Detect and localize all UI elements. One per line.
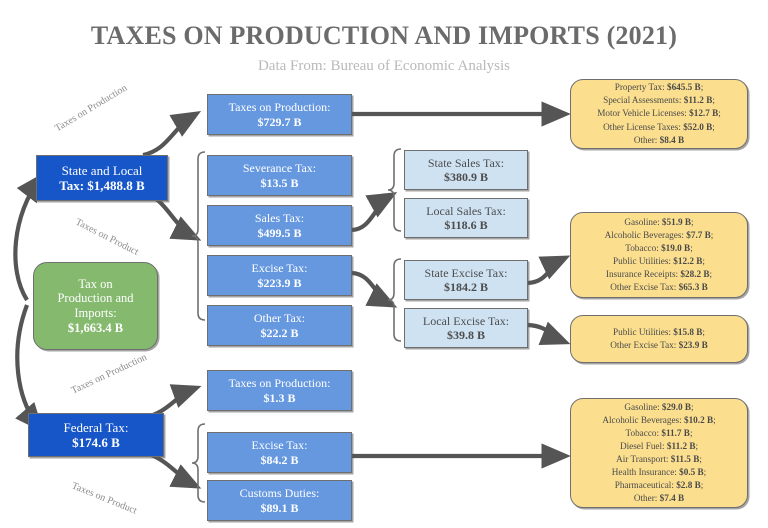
sl-production-label: Taxes on Production: [229,100,331,114]
page-title: TAXES ON PRODUCTION AND IMPORTS (2021) [0,21,768,51]
node-customs-duties[interactable]: Customs Duties: $89.1 B [207,480,352,521]
detail-box-production-taxes[interactable]: Property Tax: $645.5 B;Special Assessmen… [570,79,748,149]
detail-row: Tobacco: $19.0 B; [605,242,714,255]
state-excise-label: State Excise Tax: [425,266,508,280]
root-amount: $1,663.4 B [57,321,133,336]
federal-label: Federal Tax: [64,420,129,435]
edge-label-state-production: Taxes on Production [53,83,129,135]
brace-federal-product [192,424,205,502]
detail-row: Other Excise Tax: $65.3 B [605,281,714,294]
node-sl-taxes-on-production[interactable]: Taxes on Production: $729.7 B [207,94,352,135]
node-state-sales-tax[interactable]: State Sales Tax: $380.9 B [404,150,528,190]
node-fed-taxes-on-production[interactable]: Taxes on Production: $1.3 B [207,370,352,411]
other-tax-label: Other Tax: [254,311,305,325]
detail-row: Other: $7.4 B [602,492,715,505]
state-sales-amount: $380.9 B [428,170,504,184]
root-line1: Tax on [57,277,133,292]
node-sales-tax[interactable]: Sales Tax: $499.5 B [207,205,352,246]
state-excise-amount: $184.2 B [425,280,508,294]
detail-row: Pharmaceutical: $2.8 B; [602,479,715,492]
detail-row: Gasoline: $51.9 B; [605,216,714,229]
root-line2: Production and [57,291,133,306]
detail-row: Alcoholic Beverages: $10.2 B; [602,414,715,427]
sl-excise-amount: $223.9 B [252,276,308,290]
detail-row: Tobacco: $11.7 B; [602,427,715,440]
severance-label: Severance Tax: [243,161,316,175]
state-sales-label: State Sales Tax: [428,156,504,170]
brace-sales-group [388,149,401,231]
brace-state-product [192,152,205,320]
node-severance-tax[interactable]: Severance Tax: $13.5 B [207,155,352,196]
local-excise-amount: $39.8 B [423,328,509,342]
node-sl-excise-tax[interactable]: Excise Tax: $223.9 B [207,255,352,296]
node-local-excise-tax[interactable]: Local Excise Tax: $39.8 B [404,308,528,348]
customs-amount: $89.1 B [240,501,320,515]
node-other-tax[interactable]: Other Tax: $22.2 B [207,305,352,346]
detail-row: Insurance Receipts: $28.2 B; [605,268,714,281]
detail-row: Property Tax: $645.5 B; [597,81,721,94]
detail-row: Public Utilities: $15.8 B; [610,326,707,339]
page-subtitle: Data From: Bureau of Economic Analysis [0,58,768,75]
diagram-canvas: TAXES ON PRODUCTION AND IMPORTS (2021) D… [0,0,768,528]
state-local-label: State and Local [59,163,144,178]
root-line3: Imports: [57,306,133,321]
detail-box-federal-excise[interactable]: Gasoline: $29.0 B;Alcoholic Beverages: $… [570,398,748,508]
edge-label-federal-production: Taxes on Production [70,352,149,397]
sl-production-amount: $729.7 B [229,115,331,129]
detail-row: Diesel Fuel: $11.2 B; [602,440,715,453]
federal-amount: $174.6 B [64,435,129,450]
state-local-amount: Tax: $1,488.8 B [59,178,144,193]
fed-production-amount: $1.3 B [229,391,331,405]
edge-local-excise-to-detail [528,325,565,342]
detail-rows: Gasoline: $51.9 B;Alcoholic Beverages: $… [605,216,714,294]
detail-row: Special Assessments: $11.2 B; [597,94,721,107]
edge-state-to-production [143,114,196,155]
edge-federal-to-product [143,452,196,486]
node-fed-excise-tax[interactable]: Excise Tax: $84.2 B [207,432,352,473]
sl-excise-label: Excise Tax: [252,261,308,275]
node-state-and-local-tax[interactable]: State and Local Tax: $1,488.8 B [36,155,168,201]
node-tax-on-production-and-imports[interactable]: Tax on Production and Imports: $1,663.4 … [33,262,158,350]
local-sales-amount: $118.6 B [426,218,506,232]
detail-row: Motor Vehicle Licenses: $12.7 B; [597,107,721,120]
detail-row: Other: $8.4 B [597,134,721,147]
detail-row: Public Utilities: $12.2 B; [605,255,714,268]
edge-sales-to-sales-group [352,195,392,230]
detail-row: Other Excise Tax: $23.9 B [610,339,707,352]
node-federal-tax[interactable]: Federal Tax: $174.6 B [28,413,164,457]
node-state-excise-tax[interactable]: State Excise Tax: $184.2 B [404,260,528,300]
other-tax-amount: $22.2 B [254,326,305,340]
local-sales-label: Local Sales Tax: [426,204,506,218]
detail-box-state-excise[interactable]: Gasoline: $51.9 B;Alcoholic Beverages: $… [570,212,748,298]
sales-amount: $499.5 B [255,226,304,240]
detail-rows: Public Utilities: $15.8 B;Other Excise T… [610,326,707,352]
brace-excise-group [388,259,401,341]
detail-row: Air Transport: $11.5 B; [602,453,715,466]
fed-excise-label: Excise Tax: [252,438,308,452]
detail-row: Health Insurance: $0.5 B; [602,466,715,479]
detail-box-local-excise[interactable]: Public Utilities: $15.8 B;Other Excise T… [570,315,748,363]
edge-label-state-product: Taxes on Product [74,217,141,258]
edge-excise-to-excise-group [352,273,392,305]
sales-label: Sales Tax: [255,211,304,225]
detail-row: Other License Taxes: $52.0 B; [597,121,721,134]
detail-rows: Property Tax: $645.5 B;Special Assessmen… [597,81,721,146]
severance-amount: $13.5 B [243,176,316,190]
edge-label-federal-product: Taxes on Product [70,480,138,516]
edge-state-excise-to-detail [528,258,565,283]
detail-rows: Gasoline: $29.0 B;Alcoholic Beverages: $… [602,401,715,506]
detail-row: Gasoline: $29.0 B; [602,401,715,414]
local-excise-label: Local Excise Tax: [423,314,509,328]
customs-label: Customs Duties: [240,486,320,500]
detail-row: Alcoholic Beverages: $7.7 B; [605,229,714,242]
fed-excise-amount: $84.2 B [252,453,308,467]
fed-production-label: Taxes on Production: [229,376,331,390]
node-local-sales-tax[interactable]: Local Sales Tax: $118.6 B [404,198,528,238]
